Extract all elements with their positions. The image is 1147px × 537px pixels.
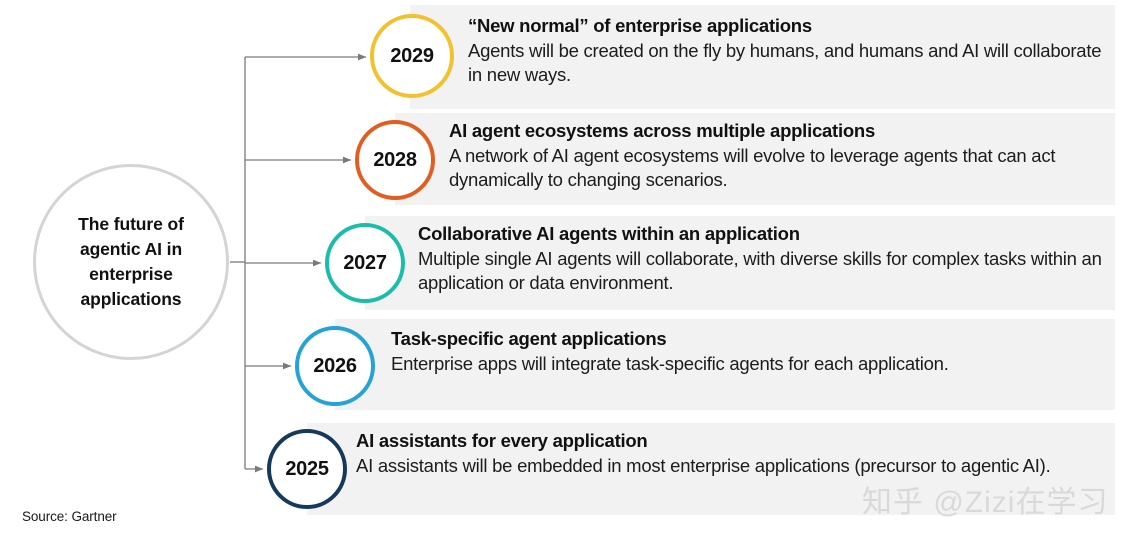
year-circle-2025: 2025 (267, 429, 347, 509)
year-circle-2026: 2026 (295, 326, 375, 406)
row-headline: AI assistants for every application (356, 429, 1113, 452)
year-label: 2028 (373, 149, 416, 172)
year-circle-2028: 2028 (355, 120, 435, 200)
hub-circle: The future of agentic AI in enterprise a… (33, 164, 229, 360)
year-circle-2027: 2027 (325, 223, 405, 303)
row-body: Multiple single AI agents will collabora… (418, 247, 1113, 295)
year-label: 2027 (343, 252, 386, 275)
row-text-2028: AI agent ecosystems across multiple appl… (449, 119, 1114, 192)
row-body: A network of AI agent ecosystems will ev… (449, 144, 1114, 192)
row-headline: “New normal” of enterprise applications (468, 14, 1113, 37)
year-label: 2026 (313, 355, 356, 378)
row-body: Agents will be created on the fly by hum… (468, 39, 1113, 87)
row-text-2027: Collaborative AI agents within an applic… (418, 222, 1113, 295)
row-text-2026: Task-specific agent applications Enterpr… (391, 327, 1113, 376)
row-body: AI assistants will be embedded in most e… (356, 454, 1113, 478)
row-headline: Task-specific agent applications (391, 327, 1113, 350)
hub-label: The future of agentic AI in enterprise a… (78, 212, 184, 311)
row-headline: AI agent ecosystems across multiple appl… (449, 119, 1114, 142)
source-caption: Source: Gartner (22, 509, 117, 524)
row-text-2029: “New normal” of enterprise applications … (468, 14, 1113, 87)
year-label: 2025 (285, 458, 328, 481)
row-body: Enterprise apps will integrate task-spec… (391, 352, 1113, 376)
year-label: 2029 (390, 45, 433, 68)
row-text-2025: AI assistants for every application AI a… (356, 429, 1113, 478)
watermark-text: 知乎 @Zizi在学习 (862, 477, 1108, 521)
row-headline: Collaborative AI agents within an applic… (418, 222, 1113, 245)
year-circle-2029: 2029 (370, 14, 454, 98)
